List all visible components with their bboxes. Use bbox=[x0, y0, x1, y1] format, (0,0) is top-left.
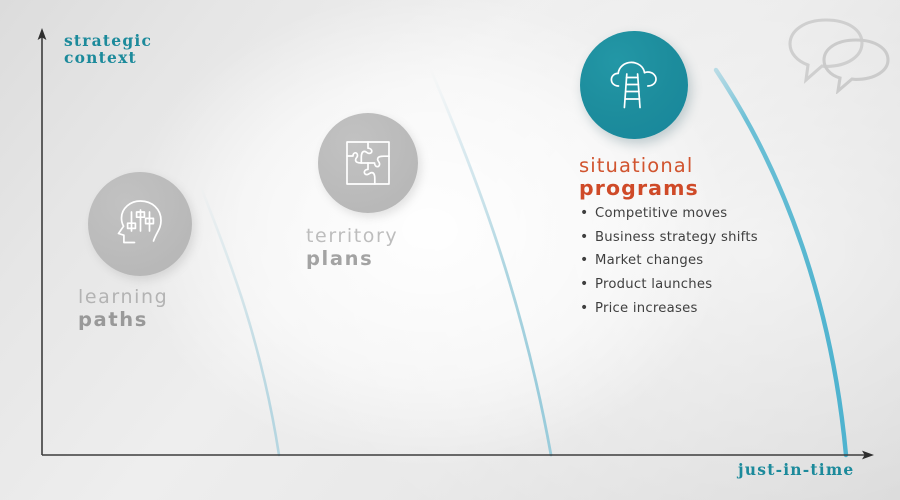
list-item: Business strategy shifts bbox=[579, 231, 859, 244]
speech-bubbles-icon bbox=[784, 12, 894, 94]
ladder-to-cloud-icon bbox=[603, 54, 665, 116]
x-axis-label: just-in-time bbox=[738, 462, 855, 479]
situational-programs-label-line2: programs bbox=[579, 177, 839, 200]
slide-canvas: strategic context just-in-time lea bbox=[0, 0, 900, 500]
speech-bubble-back bbox=[790, 20, 862, 80]
territory-plans-bubble[interactable] bbox=[318, 113, 418, 213]
y-axis-label-line2: context bbox=[64, 50, 254, 67]
list-item: Competitive moves bbox=[579, 207, 859, 220]
list-item: Product launches bbox=[579, 278, 859, 291]
head-with-sliders-icon bbox=[109, 193, 171, 255]
situational-programs-label-line1: situational bbox=[579, 155, 839, 177]
list-item: Market changes bbox=[579, 254, 859, 267]
x-axis-arrowhead bbox=[862, 451, 874, 460]
situational-programs-bullet-list: Competitive moves Business strategy shif… bbox=[579, 207, 859, 326]
y-axis-label: strategic context bbox=[64, 33, 254, 66]
learning-paths-bubble[interactable] bbox=[88, 172, 192, 276]
learning-paths-label-line1: learning bbox=[78, 287, 278, 309]
territory-plans-label-line2: plans bbox=[306, 248, 526, 270]
situational-programs-label: situational programs bbox=[579, 155, 839, 200]
territory-plans-label: territory plans bbox=[306, 226, 526, 270]
speech-bubble-front bbox=[824, 40, 888, 91]
list-item: Price increases bbox=[579, 302, 859, 315]
puzzle-pieces-icon bbox=[340, 135, 396, 191]
situational-programs-bubble[interactable] bbox=[580, 31, 688, 139]
learning-paths-label: learning paths bbox=[78, 287, 278, 331]
y-axis-arrowhead bbox=[38, 28, 47, 40]
territory-plans-label-line1: territory bbox=[306, 226, 526, 248]
learning-paths-label-line2: paths bbox=[78, 309, 278, 331]
